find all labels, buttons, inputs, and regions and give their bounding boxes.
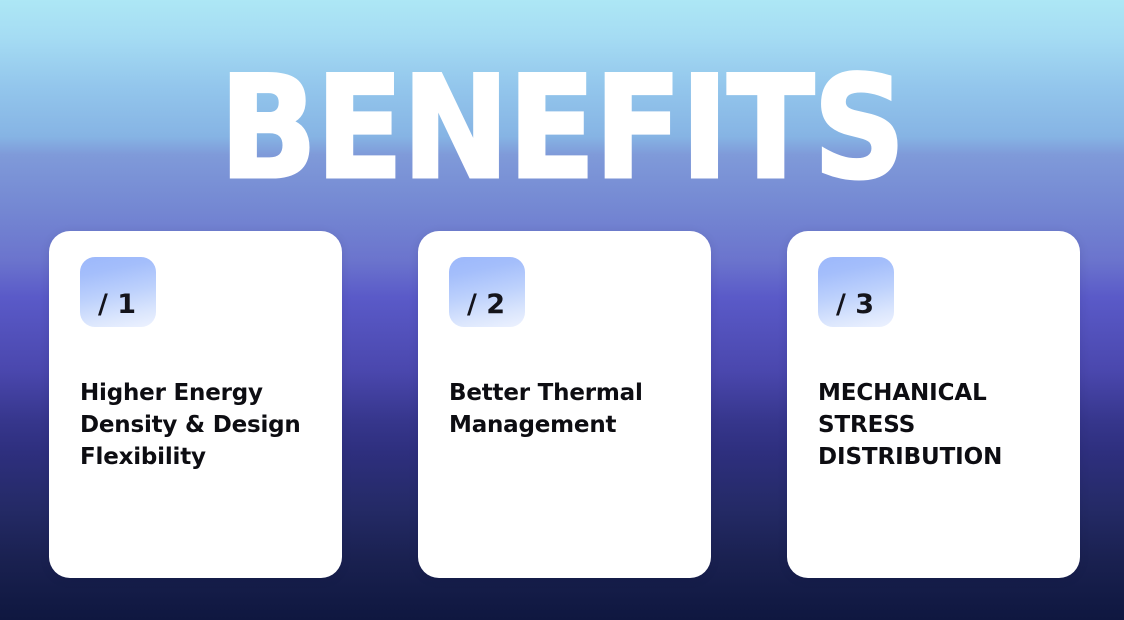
slide-canvas: BENEFITS / 1 Higher Energy Density & Des… xyxy=(0,0,1124,620)
benefit-title-3: MECHANICAL STRESS DISTRIBUTION xyxy=(818,377,1043,473)
benefit-card-1[interactable]: / 1 Higher Energy Density & Design Flexi… xyxy=(49,231,342,578)
benefit-card-3[interactable]: / 3 MECHANICAL STRESS DISTRIBUTION xyxy=(787,231,1080,578)
benefit-card-2[interactable]: / 2 Better Thermal Management xyxy=(418,231,711,578)
benefit-card-list: / 1 Higher Energy Density & Design Flexi… xyxy=(49,231,1080,578)
benefit-number-label-2: / 2 xyxy=(467,291,507,318)
benefit-number-badge-3: / 3 xyxy=(818,257,894,327)
benefit-title-1: Higher Energy Density & Design Flexibili… xyxy=(80,377,305,473)
benefit-title-2: Better Thermal Management xyxy=(449,377,674,441)
page-title: BENEFITS xyxy=(0,58,1124,200)
benefit-number-badge-2: / 2 xyxy=(449,257,525,327)
benefit-number-label-3: / 3 xyxy=(836,291,876,318)
benefit-number-label-1: / 1 xyxy=(98,291,138,318)
benefit-number-badge-1: / 1 xyxy=(80,257,156,327)
